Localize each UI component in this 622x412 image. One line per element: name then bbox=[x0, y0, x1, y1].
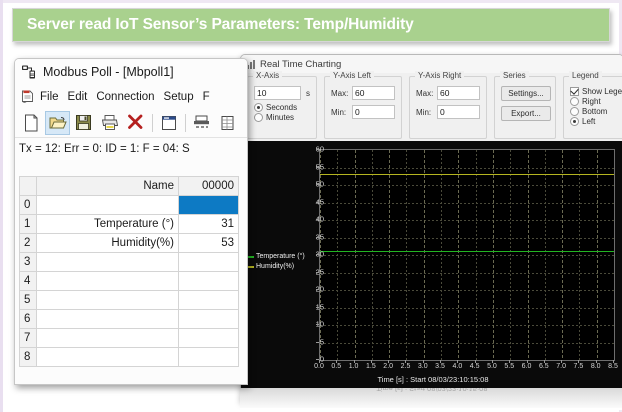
chart-gridline-v bbox=[476, 150, 477, 360]
table-row[interactable]: 1Temperature (°)31 bbox=[20, 215, 239, 234]
row-name-cell[interactable] bbox=[37, 329, 179, 348]
modbus-title-text: Modbus Poll - [Mbpoll1] bbox=[43, 65, 174, 79]
row-index-cell[interactable]: 2 bbox=[20, 234, 37, 253]
chart-xtick-mark bbox=[509, 360, 510, 363]
y-axis-right-panel-title: Y-Axis Right bbox=[415, 71, 464, 80]
legend-bottom-label: Bottom bbox=[582, 107, 607, 116]
x-axis-minutes-label: Minutes bbox=[266, 113, 294, 122]
y-axis-right-panel: Y-Axis Right Max: 60 Min: 0 bbox=[409, 76, 487, 139]
chart-xtick-mark bbox=[527, 360, 528, 363]
table-header-row: Name 00000 bbox=[20, 177, 239, 196]
chart-xtick-mark bbox=[475, 360, 476, 363]
chart-xtick-label: 5.0 bbox=[487, 363, 497, 370]
radio-dot-icon bbox=[570, 107, 579, 116]
chart-gridline-v bbox=[562, 150, 563, 360]
chart-ytick-mark bbox=[316, 167, 319, 168]
chart-gridline-v bbox=[597, 150, 598, 360]
chart-xtick-mark bbox=[371, 360, 372, 363]
y-left-max-label: Max: bbox=[331, 89, 352, 98]
chart-xtick-mark bbox=[492, 360, 493, 363]
row-value-cell[interactable]: 31 bbox=[179, 215, 239, 234]
menu-item-file[interactable]: File bbox=[40, 91, 59, 103]
chart-ytick-mark bbox=[316, 289, 319, 290]
chart-gridline-h bbox=[320, 290, 614, 291]
chart-gridline-v bbox=[441, 150, 442, 360]
chart-xtick-label: 0.0 bbox=[314, 363, 324, 370]
radio-dot-icon bbox=[570, 117, 579, 126]
chart-gridline-h bbox=[320, 168, 614, 169]
chart-xtick-mark bbox=[388, 360, 389, 363]
chart-xtick-mark bbox=[544, 360, 545, 363]
y-right-max-label: Max: bbox=[416, 89, 437, 98]
row-value-cell-selected[interactable] bbox=[179, 196, 239, 215]
x-axis-unit-label: s bbox=[306, 89, 310, 98]
y-axis-left-panel-title: Y-Axis Left bbox=[330, 71, 374, 80]
row-name-cell[interactable]: Humidity(%) bbox=[37, 234, 179, 253]
reflection-gradient: Time [s] : Start 08/03/23:10:15:08 bbox=[240, 388, 622, 408]
chart-gridline-v bbox=[614, 150, 615, 360]
toolbar-separator bbox=[185, 114, 186, 132]
chart-gridline-h bbox=[320, 238, 614, 239]
legend-left-label: Left bbox=[582, 117, 595, 126]
open-folder-icon[interactable] bbox=[45, 111, 70, 135]
chart-xtick-label: 4.0 bbox=[452, 363, 462, 370]
modbus-poll-window[interactable]: Modbus Poll - [Mbpoll1] File Edit Connec… bbox=[14, 58, 248, 385]
chart-xtick-label: 0.5 bbox=[331, 363, 341, 370]
show-legend-checkbox[interactable]: Show Legend bbox=[570, 87, 622, 96]
x-axis-duration-input[interactable]: 10 bbox=[254, 86, 301, 100]
row-name-cell[interactable] bbox=[37, 253, 179, 272]
table-row[interactable]: 5 bbox=[20, 291, 239, 310]
print-icon[interactable] bbox=[97, 111, 122, 135]
chart-ytick-mark bbox=[316, 254, 319, 255]
chart-xtick-label: 7.0 bbox=[556, 363, 566, 370]
chart-ytick-mark bbox=[316, 219, 319, 220]
chart-xtick-mark bbox=[405, 360, 406, 363]
chart-gridline-h bbox=[320, 255, 614, 256]
row-index-cell[interactable]: 6 bbox=[20, 310, 37, 329]
chart-ytick-mark bbox=[316, 342, 319, 343]
chart-gridline-v bbox=[337, 150, 338, 360]
chart-gridline-v bbox=[458, 150, 459, 360]
chart-ytick-mark bbox=[316, 202, 319, 203]
chart-gridline-v bbox=[510, 150, 511, 360]
slide-title-text: Server read IoT Sensor’s Parameters: Tem… bbox=[13, 16, 414, 34]
chart-xtick-label: 6.0 bbox=[522, 363, 532, 370]
chart-series-line-1 bbox=[320, 174, 614, 176]
table-row[interactable]: 6 bbox=[20, 310, 239, 329]
document-icon bbox=[21, 90, 35, 104]
chart-xtick-mark bbox=[336, 360, 337, 363]
row-index-cell[interactable]: 4 bbox=[20, 272, 37, 291]
row-value-cell[interactable] bbox=[179, 253, 239, 272]
chart-gridline-v bbox=[579, 150, 580, 360]
row-name-cell[interactable] bbox=[37, 291, 179, 310]
chart-gridline-v bbox=[406, 150, 407, 360]
row-index-cell[interactable]: 5 bbox=[20, 291, 37, 310]
chart-gridline-h bbox=[320, 203, 614, 204]
chart-xtick-mark bbox=[423, 360, 424, 363]
y-right-min-label: Min: bbox=[416, 108, 437, 117]
chart-canvas[interactable]: Temperature (°)Humidity(%) Time [s] : St… bbox=[241, 141, 622, 389]
chart-xtick-label: 1.5 bbox=[366, 363, 376, 370]
series-settings-button[interactable]: Settings... bbox=[501, 86, 551, 101]
chart-xtick-mark bbox=[561, 360, 562, 363]
chart-plot-area bbox=[319, 149, 615, 361]
table-row[interactable]: 0 bbox=[20, 196, 239, 215]
row-index-cell[interactable]: 7 bbox=[20, 329, 37, 348]
legend-panel: Legend Show Legend Right Bottom Left bbox=[563, 76, 622, 139]
chart-ytick-mark bbox=[316, 184, 319, 185]
legend-panel-title: Legend bbox=[569, 71, 602, 80]
chart-gridline-h bbox=[320, 325, 614, 326]
y-axis-left-panel: Y-Axis Left Max: 60 Min: 0 bbox=[324, 76, 402, 139]
real-time-charting-window[interactable]: Real Time Charting X-Axis 10 s Seconds M… bbox=[240, 54, 622, 402]
chart-ytick-mark bbox=[316, 237, 319, 238]
modbus-app-icon bbox=[22, 65, 37, 79]
chart-gridline-v bbox=[528, 150, 529, 360]
chart-gridline-v bbox=[493, 150, 494, 360]
toolbar-separator bbox=[152, 114, 153, 132]
row-index-cell[interactable]: 3 bbox=[20, 253, 37, 272]
chart-gridline-h bbox=[320, 185, 614, 186]
modbus-register-table[interactable]: Name 00000 01Temperature (°)312Humidity(… bbox=[19, 176, 239, 384]
row-index-cell[interactable]: 8 bbox=[20, 348, 37, 367]
menu-item-setup[interactable]: Setup bbox=[164, 91, 194, 103]
chart-gridline-h bbox=[320, 308, 614, 309]
chart-gridline-v bbox=[545, 150, 546, 360]
table-row[interactable]: 8 bbox=[20, 348, 239, 367]
chart-xtick-label: 5.5 bbox=[504, 363, 514, 370]
chart-xtick-mark bbox=[613, 360, 614, 363]
table-row[interactable]: 2Humidity(%)53 bbox=[20, 234, 239, 253]
y-right-max-input[interactable]: 60 bbox=[437, 86, 480, 100]
table-body: 01Temperature (°)312Humidity(%)53345678 bbox=[20, 196, 239, 367]
menu-item-connection[interactable]: Connection bbox=[96, 91, 154, 103]
chart-xaxis-label: Time [s] : Start 08/03/23:10:15:08 bbox=[241, 375, 622, 384]
chart-xtick-mark bbox=[319, 360, 320, 363]
checkbox-check-icon bbox=[570, 87, 579, 96]
row-name-cell[interactable] bbox=[37, 272, 179, 291]
chart-gridline-v bbox=[389, 150, 390, 360]
row-value-cell[interactable]: 53 bbox=[179, 234, 239, 253]
x-axis-panel-title: X-Axis bbox=[253, 71, 282, 80]
legend-position-bottom-radio[interactable]: Bottom bbox=[570, 107, 622, 116]
y-left-max-input[interactable]: 60 bbox=[352, 86, 395, 100]
chart-gridline-v bbox=[355, 150, 356, 360]
chart-xtick-mark bbox=[440, 360, 441, 363]
chart-ytick-mark bbox=[316, 307, 319, 308]
header-value[interactable]: 00000 bbox=[179, 177, 239, 196]
chart-xtick-mark bbox=[457, 360, 458, 363]
chart-series-line-0 bbox=[320, 251, 614, 253]
chart-xtick-mark bbox=[596, 360, 597, 363]
show-legend-label: Show Legend bbox=[582, 87, 622, 96]
chart-xtick-label: 2.5 bbox=[401, 363, 411, 370]
row-value-cell[interactable] bbox=[179, 291, 239, 310]
header-name: Name bbox=[37, 177, 179, 196]
y-right-min-input[interactable]: 0 bbox=[437, 105, 480, 119]
new-document-icon[interactable] bbox=[19, 111, 44, 135]
radio-dot-icon bbox=[254, 113, 263, 122]
delete-x-icon[interactable] bbox=[123, 111, 148, 135]
table-row[interactable]: 7 bbox=[20, 329, 239, 348]
legend-position-left-radio[interactable]: Left bbox=[570, 117, 622, 126]
modbus-titlebar[interactable]: Modbus Poll - [Mbpoll1] bbox=[15, 59, 247, 85]
chart-gridline-h bbox=[320, 220, 614, 221]
slide-border-top bbox=[0, 0, 622, 3]
chart-gridline-v bbox=[424, 150, 425, 360]
chart-ytick-mark bbox=[316, 149, 319, 150]
chart-xtick-label: 3.5 bbox=[435, 363, 445, 370]
row-name-cell[interactable] bbox=[37, 196, 179, 215]
table-icon[interactable] bbox=[215, 111, 240, 135]
slide-border-left bbox=[0, 0, 3, 412]
header-index bbox=[20, 177, 37, 196]
charting-controls-strip: X-Axis 10 s Seconds Minutes Y-Axis Left … bbox=[247, 76, 619, 139]
row-index-cell[interactable]: 0 bbox=[20, 196, 37, 215]
chart-ytick-mark bbox=[316, 272, 319, 273]
chart-gridline-h bbox=[320, 273, 614, 274]
menu-item-functions[interactable]: F bbox=[203, 91, 210, 103]
table-row[interactable]: 4 bbox=[20, 272, 239, 291]
series-panel-title: Series bbox=[500, 71, 529, 80]
chart-xtick-label: 2.0 bbox=[383, 363, 393, 370]
chart-xtick-label: 3.0 bbox=[418, 363, 428, 370]
y-left-min-input[interactable]: 0 bbox=[352, 105, 395, 119]
row-name-cell[interactable] bbox=[37, 310, 179, 329]
x-axis-seconds-label: Seconds bbox=[266, 103, 297, 112]
row-value-cell[interactable] bbox=[179, 272, 239, 291]
chart-gridline-v bbox=[372, 150, 373, 360]
read-write-icon[interactable] bbox=[189, 111, 214, 135]
menu-item-edit[interactable]: Edit bbox=[68, 91, 88, 103]
chart-xtick-mark bbox=[578, 360, 579, 363]
legend-right-label: Right bbox=[582, 97, 601, 106]
x-axis-minutes-radio[interactable]: Minutes bbox=[254, 113, 310, 122]
table-row[interactable]: 3 bbox=[20, 253, 239, 272]
row-index-cell[interactable]: 1 bbox=[20, 215, 37, 234]
save-floppy-icon[interactable] bbox=[71, 111, 96, 135]
charting-title-text: Real Time Charting bbox=[260, 59, 341, 70]
x-axis-panel: X-Axis 10 s Seconds Minutes bbox=[247, 76, 317, 139]
chart-xtick-label: 7.5 bbox=[574, 363, 584, 370]
chart-xtick-label: 8.5 bbox=[608, 363, 618, 370]
radio-dot-icon bbox=[570, 97, 579, 106]
y-left-min-label: Min: bbox=[331, 108, 352, 117]
chart-xtick-label: 1.0 bbox=[349, 363, 359, 370]
modbus-toolbar[interactable] bbox=[15, 108, 247, 138]
row-value-cell[interactable] bbox=[179, 310, 239, 329]
chart-xtick-label: 6.5 bbox=[539, 363, 549, 370]
series-panel: Series Settings... Export... bbox=[494, 76, 556, 139]
chart-ytick-mark bbox=[316, 324, 319, 325]
chart-gridline-h bbox=[320, 343, 614, 344]
series-export-button[interactable]: Export... bbox=[501, 106, 551, 121]
reflection-text: Time [s] : Start 08/03/23:10:15:08 bbox=[240, 388, 622, 393]
row-name-cell[interactable]: Temperature (°) bbox=[37, 215, 179, 234]
x-axis-seconds-radio[interactable]: Seconds bbox=[254, 103, 310, 112]
radio-dot-icon bbox=[254, 103, 263, 112]
chart-xtick-mark bbox=[354, 360, 355, 363]
slide-title-banner: Server read IoT Sensor’s Parameters: Tem… bbox=[12, 8, 610, 42]
chart-xtick-label: 4.5 bbox=[470, 363, 480, 370]
row-name-cell[interactable] bbox=[37, 348, 179, 367]
legend-position-right-radio[interactable]: Right bbox=[570, 97, 622, 106]
chart-xtick-label: 8.0 bbox=[591, 363, 601, 370]
modbus-status-line: Tx = 12: Err = 0: ID = 1: F = 04: S bbox=[15, 138, 247, 159]
window-icon[interactable] bbox=[156, 111, 181, 135]
slide-reflection: Time [s] : Start 08/03/23:10:15:08 bbox=[240, 388, 622, 410]
row-value-cell[interactable] bbox=[179, 329, 239, 348]
row-value-cell[interactable] bbox=[179, 348, 239, 367]
modbus-menubar[interactable]: File Edit Connection Setup F bbox=[15, 85, 247, 108]
